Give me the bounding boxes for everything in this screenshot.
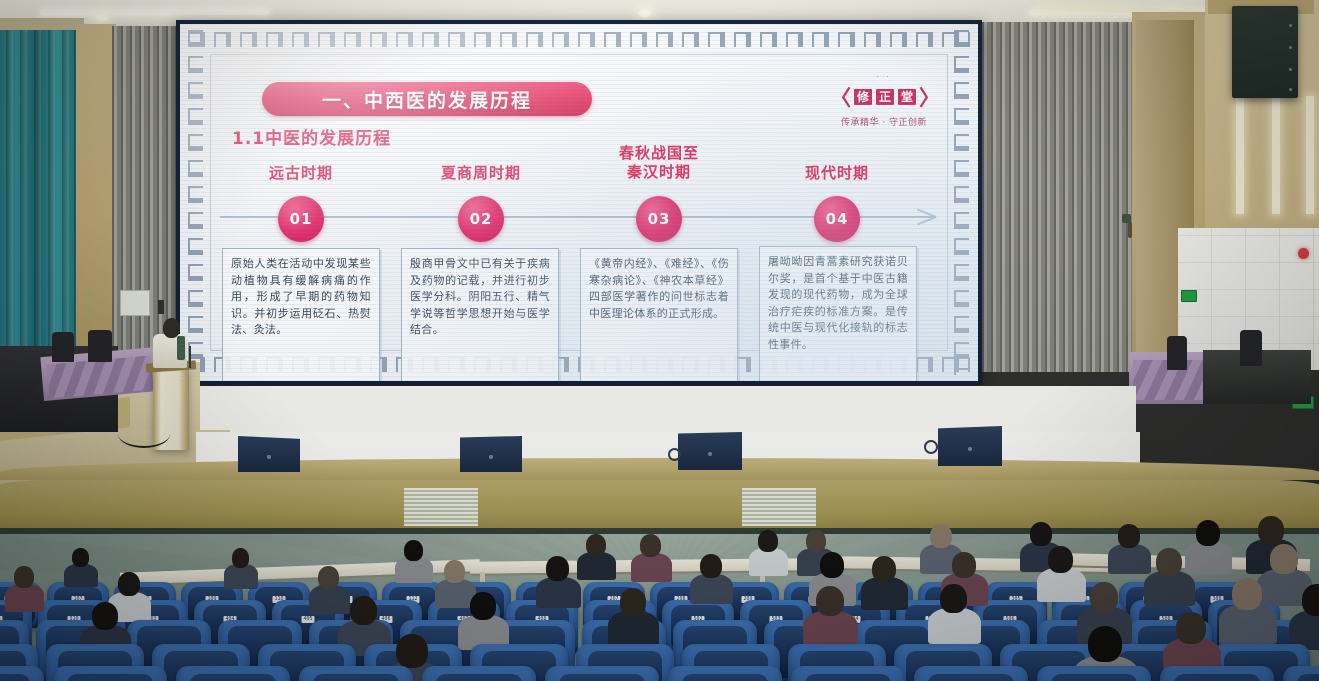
audience-member-shoulders: [309, 585, 350, 614]
audience-member-head: [820, 552, 844, 578]
stage-monitor-1: [238, 436, 300, 472]
audience-member-head: [396, 634, 428, 668]
timeline-arrow-icon: [914, 202, 942, 230]
presenter-head: [163, 318, 180, 338]
audience-member-head: [872, 556, 896, 582]
wall-reveal-1: [1236, 96, 1244, 214]
audience-member-shoulders: [690, 574, 733, 604]
auditorium-seat[interactable]: [1037, 666, 1151, 681]
audience-member-head: [640, 534, 661, 557]
audience-member-shoulders: [536, 577, 581, 608]
timeline-node-3-number: 03: [648, 210, 671, 228]
timeline-card-1: 原始人类在活动中发现某些动植物具有缓解病痛的作用，形成了早期的药物知识。并初步运…: [222, 248, 380, 381]
auditorium-seat[interactable]: [176, 666, 290, 681]
timeline-card-4-text: 屠呦呦因青蒿素研究获诺贝尔奖，是首个基于中医古籍发现的现代药物，成为全球治疗疟疾…: [768, 254, 908, 353]
brand-left-brace: 〈: [830, 82, 851, 112]
audience-member: [872, 556, 925, 618]
audience-member-head: [1030, 522, 1052, 546]
audience-member-head: [470, 592, 496, 620]
wall-outlet-left: [158, 300, 164, 314]
fire-alarm-icon: [1298, 248, 1309, 259]
meander-border-right: [952, 30, 972, 375]
audience-member-head: [806, 530, 826, 552]
audience-member-head: [816, 586, 844, 616]
audience-member-head: [620, 588, 646, 616]
wall-reveal-2: [1272, 96, 1280, 214]
timeline-card-3-text: 《黄帝内经》、《难经》、《伤寒杂病论》、《神农本草经》四部医学著作的问世标志着中…: [589, 256, 729, 322]
acoustic-slat-wall-right: [982, 22, 1138, 372]
timeline-era-label-3: 春秋战国至 秦汉时期: [584, 144, 734, 182]
operator-chair-2: [88, 330, 112, 362]
stage-monitor-4: [938, 426, 1002, 466]
audience-member-head: [444, 560, 465, 583]
ceiling-downlight-1: [96, 14, 108, 21]
wall-notice-plate: [120, 290, 150, 316]
auditorium-seat[interactable]: [545, 666, 659, 681]
brand-char-1: 修: [854, 89, 872, 105]
chair-back-right-2: [1167, 336, 1187, 370]
audience-member-head: [232, 548, 249, 568]
door-handle-icon[interactable]: [1128, 222, 1132, 238]
audience-member-head: [952, 552, 976, 578]
brand-char-2: 正: [876, 89, 894, 105]
slide-surface: 一、中西医的发展历程 1.1中医的发展历程 · · 〈 修 正 堂 〉 传承精华…: [180, 24, 978, 381]
audience-member-head: [700, 554, 722, 578]
apron-vent-2: [742, 488, 816, 526]
slide-title-text: 一、中西医的发展历程: [322, 86, 532, 113]
brand-right-brace: 〉: [919, 82, 940, 112]
timeline-era-label-4: 现代时期: [762, 164, 912, 183]
audience-member: [14, 566, 58, 619]
audience-member-head: [92, 602, 118, 630]
hanging-speaker-right: [1232, 6, 1298, 98]
wall-pillar-left: [76, 24, 116, 364]
auditorium-seat[interactable]: [0, 666, 44, 681]
ceiling-downlight-2: [639, 10, 651, 17]
meander-border-left: [186, 30, 206, 375]
slide-title-banner: 一、中西医的发展历程: [262, 82, 592, 116]
audience-member-shoulders: [64, 564, 97, 588]
timeline-node-2[interactable]: 02: [458, 196, 504, 242]
timeline-era-label-3-line2: 秦汉时期: [584, 163, 734, 182]
operator-chair-1: [52, 332, 74, 362]
audience-member-head: [1088, 626, 1122, 662]
timeline-card-2: 殷商甲骨文中已有关于疾病及药物的记载，并进行初步医学分科。阴阳五行、精气学说等哲…: [401, 248, 559, 381]
brand-tagline: 传承精华 · 守正创新: [830, 115, 938, 128]
auditorium-seat[interactable]: [53, 666, 167, 681]
projection-screen[interactable]: 一、中西医的发展历程 1.1中医的发展历程 · · 〈 修 正 堂 〉 传承精华…: [176, 20, 982, 385]
chair-back-right: [1240, 330, 1262, 366]
audience-member-head: [1302, 584, 1319, 616]
audience-member-head: [1270, 544, 1298, 574]
stage-monitor-2: [460, 436, 522, 472]
audience-member: [546, 556, 597, 616]
audience-member-head: [930, 524, 952, 548]
audience-member-head: [1258, 516, 1284, 544]
apron-vent-1: [404, 488, 478, 526]
audience-member-head: [940, 584, 967, 613]
stage-curtain-left: [0, 24, 82, 354]
audience-member-shoulders: [928, 608, 981, 644]
presenter-scarf: [177, 336, 185, 360]
monitor-4-hook-icon: [924, 440, 938, 454]
audience-member-head: [350, 596, 377, 625]
audience-member-head: [1176, 612, 1206, 644]
audience-member: [700, 554, 748, 612]
timeline-node-4-number: 04: [826, 210, 849, 228]
audience-member-head: [586, 534, 606, 556]
audience-member-head: [404, 540, 423, 561]
timeline-card-4: 屠呦呦因青蒿素研究获诺贝尔奖，是首个基于中医古籍发现的现代药物，成为全球治疗疟疾…: [759, 246, 917, 381]
timeline-node-1-number: 01: [290, 210, 313, 228]
auditorium-photo: 一、中西医的发展历程 1.1中医的发展历程 · · 〈 修 正 堂 〉 传承精华…: [0, 0, 1319, 681]
audience-member-head: [1196, 520, 1220, 546]
audience-member-head: [118, 572, 140, 596]
meander-border-top: [188, 30, 970, 50]
timeline-card-2-text: 殷商甲骨文中已有关于疾病及药物的记载，并进行初步医学分科。阴阳五行、精气学说等哲…: [410, 256, 550, 339]
curtain-track-left: [0, 18, 84, 30]
audience-member-shoulders: [224, 564, 257, 589]
door-lock-icon: [1122, 214, 1131, 223]
auditorium-seat[interactable]: [668, 666, 782, 681]
audience-member-shoulders: [749, 548, 788, 576]
monitor-3-hook-icon: [668, 448, 681, 461]
audience-member: [640, 534, 686, 589]
brand-char-3: 堂: [898, 89, 916, 105]
audience-member-head: [1156, 548, 1182, 576]
auditorium-seat[interactable]: [914, 666, 1028, 681]
exit-sign-icon: [1181, 290, 1197, 302]
stage-monitor-3: [678, 432, 742, 470]
audience-member-shoulders: [1037, 568, 1086, 602]
audience-member-shoulders: [631, 553, 672, 582]
audience-member: [758, 530, 802, 583]
slide-content: 一、中西医的发展历程 1.1中医的发展历程 · · 〈 修 正 堂 〉 传承精华…: [214, 56, 944, 349]
timeline-era-label-3-line1: 春秋战国至: [584, 144, 734, 163]
slide-subtitle: 1.1中医的发展历程: [232, 124, 391, 149]
timeline-node-2-number: 02: [470, 210, 493, 228]
ceiling-light-strip-left: [40, 10, 270, 15]
audience-member-shoulders: [1144, 571, 1195, 606]
audience-member-head: [758, 530, 778, 552]
audience-member-head: [1232, 578, 1262, 610]
audience-member-head: [1118, 524, 1140, 548]
timeline-card-3: 《黄帝内经》、《难经》、《伤寒杂病论》、《神农本草经》四部医学著作的问世标志着中…: [580, 248, 738, 381]
auditorium-seat[interactable]: [422, 666, 536, 681]
timeline-era-label-2: 夏商周时期: [406, 164, 556, 183]
audience-member-shoulders: [395, 557, 432, 583]
timeline-node-3[interactable]: 03: [636, 196, 682, 242]
audience-member: [232, 548, 269, 596]
audience-member-shoulders: [803, 611, 858, 649]
audience-member-head: [1048, 546, 1073, 573]
audience-member-head: [72, 548, 89, 567]
audience-member-head: [1090, 582, 1118, 612]
auditorium-seat[interactable]: [1283, 666, 1319, 681]
audience-member-shoulders: [608, 611, 659, 646]
timeline-card-1-text: 原始人类在活动中发现某些动植物具有缓解病痛的作用，形成了早期的药物知识。并初步运…: [231, 256, 371, 339]
audience-member-head: [546, 556, 569, 581]
timeline-node-1[interactable]: 01: [278, 196, 324, 242]
microphone-stand: [189, 346, 191, 368]
audience-member-shoulders: [5, 584, 44, 612]
audience-member: [1156, 548, 1213, 615]
auditorium-seat[interactable]: [791, 666, 905, 681]
auditorium-seat[interactable]: [299, 666, 413, 681]
timeline-node-4[interactable]: 04: [814, 196, 860, 242]
floor-cable: [118, 420, 170, 448]
brand-seal: 〈 修 正 堂 〉: [830, 82, 940, 112]
audience-member: [72, 548, 109, 594]
timeline-era-label-1: 远古时期: [226, 164, 376, 183]
auditorium-seat[interactable]: [1160, 666, 1274, 681]
audience-member-shoulders: [1108, 544, 1151, 574]
brand-logo: · · 〈 修 正 堂 〉 传承精华 · 守正创新: [830, 74, 938, 128]
apron-cap: [0, 458, 1319, 480]
wall-reveal-3: [1306, 96, 1314, 214]
brand-top-mark: · ·: [830, 74, 938, 81]
audience-member-head: [14, 566, 34, 588]
audience-member-head: [318, 566, 339, 589]
